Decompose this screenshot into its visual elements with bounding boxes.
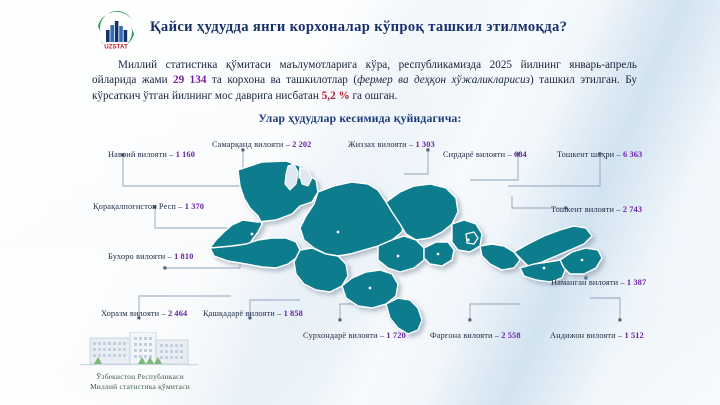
region-sep: – bbox=[616, 205, 620, 214]
intro-text-4: га ошган. bbox=[350, 90, 398, 102]
region-name: Наманган вилояти bbox=[551, 278, 618, 287]
region-value: 1 387 bbox=[627, 278, 646, 287]
region-sep: – bbox=[495, 331, 499, 340]
region-label-namangan: Наманган вилояти – 1 387 bbox=[551, 278, 646, 287]
region-sep: – bbox=[169, 150, 173, 159]
region-value: 1 303 bbox=[415, 140, 434, 149]
region-value: 2 743 bbox=[623, 205, 642, 214]
region-value: 1 720 bbox=[386, 331, 405, 340]
region-surxondaryo bbox=[386, 298, 422, 334]
region-label-samarqand: Самарқанд вилояти – 2 202 bbox=[212, 140, 311, 149]
region-label-karakalpakstan: Қорақалпоғистон Респ – 1 370 bbox=[93, 202, 204, 211]
region-value: 1 810 bbox=[174, 252, 193, 261]
region-label-xorazm: Хоразм вилояти – 2 464 bbox=[101, 309, 187, 318]
region-label-andijon: Андижон вилояти – 1 512 bbox=[550, 331, 644, 340]
growth-percent: 5,2 % bbox=[322, 90, 350, 102]
footer-caption-line2: Миллий статистика қўмитаси bbox=[60, 382, 220, 392]
region-value: 1 370 bbox=[185, 202, 204, 211]
svg-text:UZSTAT: UZSTAT bbox=[104, 44, 128, 51]
region-label-fargona: Фарғона вилояти – 2 558 bbox=[430, 331, 521, 340]
enterprises-count: 29 134 bbox=[173, 74, 206, 86]
region-name: Фарғона вилояти bbox=[430, 331, 493, 340]
region-name: Жиззах вилояти bbox=[348, 140, 407, 149]
region-sep: – bbox=[277, 309, 281, 318]
region-name: Хоразм вилояти bbox=[101, 309, 159, 318]
region-sep: – bbox=[507, 150, 511, 159]
region-value: 1 160 bbox=[176, 150, 195, 159]
region-sep: – bbox=[409, 140, 413, 149]
region-name: Тошкент вилояти bbox=[551, 205, 614, 214]
region-name: Тошкент шаҳри bbox=[557, 150, 614, 159]
region-value: 6 363 bbox=[623, 150, 642, 159]
region-name: Андижон вилояти bbox=[550, 331, 616, 340]
region-name: Қорақалпоғистон Респ bbox=[93, 202, 176, 211]
region-name: Қашқадарё вилояти bbox=[203, 309, 275, 318]
region-name: Самарқанд вилояти bbox=[212, 140, 283, 149]
region-value: 2 202 bbox=[292, 140, 311, 149]
intro-text-2: та корхона ва ташкилотлар ( bbox=[206, 74, 357, 86]
region-value: 1 512 bbox=[624, 331, 643, 340]
region-value: 2 464 bbox=[168, 309, 187, 318]
region-label-qashqadaryo: Қашқадарё вилояти – 1 858 bbox=[203, 309, 303, 318]
statistics-committee-building-icon bbox=[80, 332, 198, 372]
region-label-buxoro: Бухоро вилояти – 1 810 bbox=[108, 252, 193, 261]
region-label-toshkent-city: Тошкент шаҳри – 6 363 bbox=[557, 150, 642, 159]
region-value: 2 558 bbox=[501, 331, 520, 340]
region-name: Сурхондарё вилояти bbox=[303, 331, 378, 340]
infographic-poster: UZSTAT Қайси ҳудудда янги корхоналар кўп… bbox=[0, 0, 720, 405]
region-name: Бухоро вилояти bbox=[108, 252, 165, 261]
page-title: Қайси ҳудудда янги корхоналар кўпроқ таш… bbox=[150, 19, 680, 36]
region-sep: – bbox=[620, 278, 624, 287]
intro-paragraph: Миллий статистика қўмитаси маълумотлариг… bbox=[92, 58, 637, 104]
region-label-jizzax: Жиззах вилояти – 1 303 bbox=[348, 140, 435, 149]
region-label-navoiy: Навоий вилояти – 1 160 bbox=[108, 150, 195, 159]
region-sep: – bbox=[168, 252, 172, 261]
region-sep: – bbox=[286, 140, 290, 149]
region-name: Сирдарё вилояти bbox=[443, 150, 505, 159]
footer-caption: Ўзбекистон Республикаси Миллий статистик… bbox=[60, 372, 220, 391]
region-sep: – bbox=[380, 331, 384, 340]
region-value: 684 bbox=[514, 150, 527, 159]
region-sep: – bbox=[618, 331, 622, 340]
uzstat-logo-icon: UZSTAT bbox=[92, 10, 140, 54]
header: UZSTAT Қайси ҳудудда янги корхоналар кўп… bbox=[0, 0, 720, 56]
region-sep: – bbox=[616, 150, 620, 159]
region-label-sirdaryo: Сирдарё вилояти – 684 bbox=[443, 150, 527, 159]
region-sep: – bbox=[161, 309, 165, 318]
region-name: Навоий вилояти bbox=[108, 150, 167, 159]
intro-italic-note: фермер ва деҳқон хўжаликларисиз bbox=[357, 74, 530, 86]
section-subtitle: Улар ҳудудлар кесимида қуйидагича: bbox=[0, 112, 720, 125]
footer-caption-line1: Ўзбекистон Республикаси bbox=[60, 372, 220, 382]
region-sep: – bbox=[178, 202, 182, 211]
region-label-toshkent-region: Тошкент вилояти – 2 743 bbox=[551, 205, 642, 214]
region-value: 1 858 bbox=[284, 309, 303, 318]
region-fergana-gateway bbox=[480, 244, 520, 270]
region-label-surxondaryo: Сурхондарё вилояти – 1 720 bbox=[303, 331, 406, 340]
